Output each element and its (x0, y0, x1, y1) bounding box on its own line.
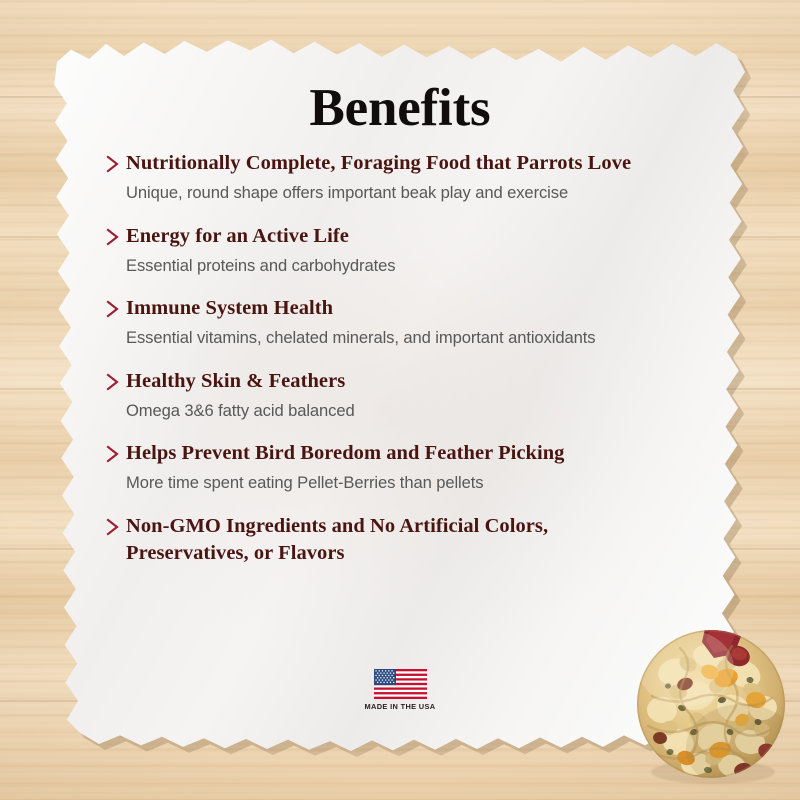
chevron-right-icon (106, 444, 126, 464)
pellet-berry-photo (622, 612, 800, 790)
benefit-subtitle: Unique, round shape offers important bea… (126, 182, 730, 204)
benefit-title: Immune System Health (126, 295, 730, 322)
benefit-subtitle: Omega 3&6 fatty acid balanced (126, 400, 730, 422)
benefit-title: Nutritionally Complete, Foraging Food th… (126, 150, 730, 177)
made-in-usa-badge: MADE IN THE USA (340, 669, 460, 711)
benefit-title: Non-GMO Ingredients and No Artificial Co… (126, 513, 586, 567)
benefit-text-2: Energy for an Active Life Essential prot… (126, 223, 730, 277)
benefit-subtitle: Essential vitamins, chelated minerals, a… (126, 327, 730, 349)
benefit-text-1: Nutritionally Complete, Foraging Food th… (126, 150, 730, 204)
benefit-item-3: Immune System Health Essential vitamins,… (106, 295, 730, 349)
benefit-text-6: Non-GMO Ingredients and No Artificial Co… (126, 513, 730, 567)
benefit-text-5: Helps Prevent Bird Boredom and Feather P… (126, 440, 730, 494)
benefit-item-5: Helps Prevent Bird Boredom and Feather P… (106, 440, 730, 494)
benefit-title: Energy for an Active Life (126, 223, 730, 250)
benefit-title: Helps Prevent Bird Boredom and Feather P… (126, 440, 730, 467)
benefit-subtitle: Essential proteins and carbohydrates (126, 255, 730, 277)
chevron-right-icon (106, 227, 126, 247)
usa-flag-icon (374, 669, 427, 699)
benefit-item-2: Energy for an Active Life Essential prot… (106, 223, 730, 277)
benefit-item-6: Non-GMO Ingredients and No Artificial Co… (106, 513, 730, 567)
chevron-right-icon (106, 299, 126, 319)
benefit-text-3: Immune System Health Essential vitamins,… (126, 295, 730, 349)
benefit-subtitle: More time spent eating Pellet-Berries th… (126, 472, 730, 494)
benefit-title: Healthy Skin & Feathers (126, 368, 730, 395)
benefit-item-1: Nutritionally Complete, Foraging Food th… (106, 150, 730, 204)
page-title: Benefits (50, 82, 750, 135)
benefit-item-4: Healthy Skin & Feathers Omega 3&6 fatty … (106, 368, 730, 422)
chevron-right-icon (106, 517, 126, 537)
benefit-text-4: Healthy Skin & Feathers Omega 3&6 fatty … (126, 368, 730, 422)
chevron-right-icon (106, 154, 126, 174)
made-in-usa-caption: MADE IN THE USA (340, 702, 460, 711)
benefits-list: Nutritionally Complete, Foraging Food th… (106, 150, 730, 586)
chevron-right-icon (106, 372, 126, 392)
